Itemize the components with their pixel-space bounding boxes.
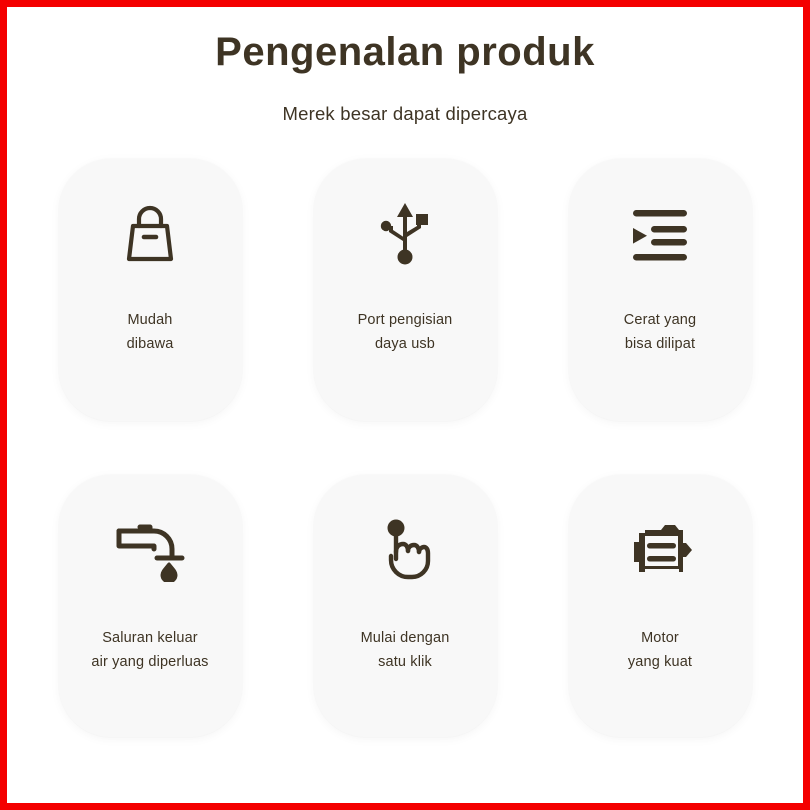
- feature-card-label: Mudah dibawa: [119, 309, 182, 357]
- page-subtitle: Merek besar dapat dipercaya: [7, 75, 803, 125]
- feature-row-2: Saluran keluar air yang diperluas Mulai …: [59, 475, 752, 737]
- feature-card-motor-yang-kuat[interactable]: Motor yang kuat: [569, 475, 752, 737]
- feature-card-label: Mulai dengan satu klik: [353, 627, 458, 675]
- feature-card-label: Cerat yang bisa dilipat: [616, 309, 704, 357]
- tap-hand-icon: [379, 475, 431, 627]
- feature-card-port-pengisian-daya-usb[interactable]: Port pengisian daya usb: [314, 159, 497, 421]
- product-introduction-page: Pengenalan produk Merek besar dapat dipe…: [0, 0, 810, 810]
- electric-motor-icon: [625, 475, 695, 627]
- page-inner: Pengenalan produk Merek besar dapat dipe…: [7, 7, 803, 803]
- handbag-icon: [121, 159, 179, 309]
- feature-card-mulai-dengan-satu-klik[interactable]: Mulai dengan satu klik: [314, 475, 497, 737]
- page-title: Pengenalan produk: [7, 29, 803, 75]
- faucet-drip-icon: [114, 475, 186, 627]
- collapse-left-icon: [629, 159, 691, 309]
- feature-grid: Mudah dibawa Port pengisian daya: [7, 159, 803, 737]
- feature-card-mudah-dibawa[interactable]: Mudah dibawa: [59, 159, 242, 421]
- page-header: Pengenalan produk Merek besar dapat dipe…: [7, 7, 803, 125]
- feature-card-saluran-keluar-air[interactable]: Saluran keluar air yang diperluas: [59, 475, 242, 737]
- feature-card-label: Saluran keluar air yang diperluas: [83, 627, 216, 675]
- feature-row-1: Mudah dibawa Port pengisian daya: [59, 159, 752, 421]
- feature-card-cerat-yang-bisa-dilipat[interactable]: Cerat yang bisa dilipat: [569, 159, 752, 421]
- feature-card-label: Motor yang kuat: [620, 627, 700, 675]
- feature-card-label: Port pengisian daya usb: [350, 309, 461, 357]
- usb-icon: [376, 159, 434, 309]
